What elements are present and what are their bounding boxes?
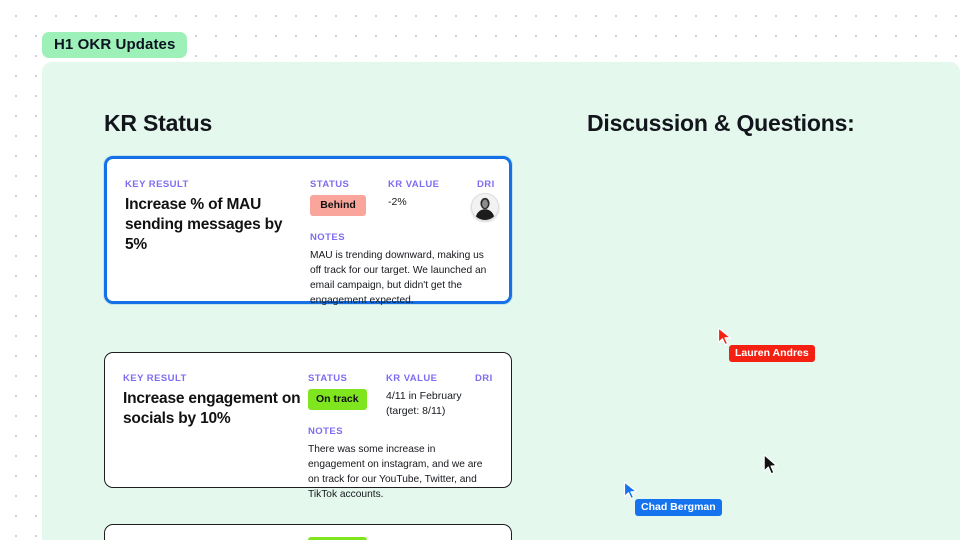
avatar-photo-icon — [472, 194, 498, 220]
cursor-arrow-icon — [623, 481, 639, 501]
label-notes: NOTES — [308, 426, 343, 437]
okr-frame[interactable]: KR Status Discussion & Questions: KEY RE… — [42, 62, 960, 540]
collaborator-name-label: Lauren Andres — [729, 345, 815, 362]
label-kr-value: KR VALUE — [386, 373, 437, 384]
label-dri: DRI — [477, 179, 495, 190]
kr-card[interactable]: On track — [104, 524, 512, 540]
kr-card[interactable]: KEY RESULT Increase % of MAU sending mes… — [104, 156, 512, 304]
cursor-arrow-icon — [717, 327, 733, 347]
kr-notes: There was some increase in engagement on… — [308, 442, 494, 502]
kr-card-content: KEY RESULT Increase % of MAU sending mes… — [107, 159, 509, 301]
status-badge[interactable]: On track — [308, 389, 367, 410]
kr-title: Increase engagement on socials by 10% — [123, 389, 305, 429]
avatar[interactable] — [471, 193, 499, 221]
kr-value: -2% — [388, 195, 474, 210]
collaborator-name-label: Chad Bergman — [635, 499, 722, 516]
label-kr-value: KR VALUE — [388, 179, 439, 190]
kr-title: Increase % of MAU sending messages by 5% — [125, 195, 307, 254]
kr-status-heading: KR Status — [104, 110, 212, 137]
kr-card[interactable]: KEY RESULT Increase engagement on social… — [104, 352, 512, 488]
label-key-result: KEY RESULT — [125, 179, 189, 190]
label-key-result: KEY RESULT — [123, 373, 187, 384]
frame-title-label[interactable]: H1 OKR Updates — [42, 32, 187, 58]
label-status: STATUS — [310, 179, 349, 190]
mouse-pointer-icon — [763, 454, 778, 476]
kr-card-content: KEY RESULT Increase engagement on social… — [105, 353, 511, 487]
label-notes: NOTES — [310, 232, 345, 243]
kr-notes: MAU is trending downward, making us off … — [310, 248, 496, 308]
kr-card-content: On track — [105, 525, 511, 540]
status-badge[interactable]: Behind — [310, 195, 366, 216]
label-status: STATUS — [308, 373, 347, 384]
label-dri: DRI — [475, 373, 493, 384]
discussion-questions-heading: Discussion & Questions: — [587, 110, 855, 137]
kr-value: 4/11 in February (target: 8/11) — [386, 389, 472, 419]
